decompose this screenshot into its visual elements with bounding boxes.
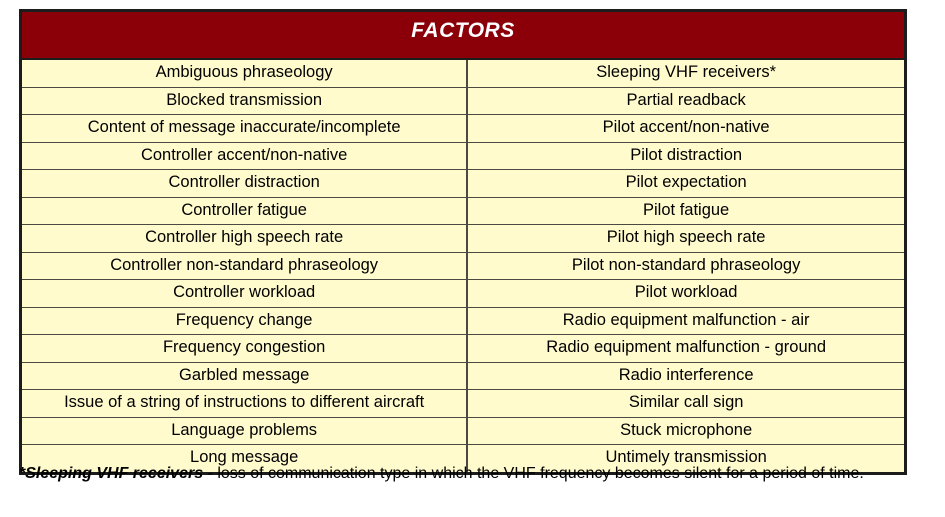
factors-table-page: FACTORS Ambiguous phraseologySleeping VH… xyxy=(0,0,945,517)
table-row: Ambiguous phraseologySleeping VHF receiv… xyxy=(22,60,904,88)
table-row: Language problemsStuck microphone xyxy=(22,418,904,446)
table-header-banner: FACTORS xyxy=(22,12,904,60)
table-cell-right: Pilot high speech rate xyxy=(468,225,904,252)
table-cell-left: Language problems xyxy=(22,418,468,445)
footnote-term: *Sleeping VHF receivers xyxy=(19,465,203,482)
table-cell-right: Similar call sign xyxy=(468,390,904,417)
table-cell-left: Controller non-standard phraseology xyxy=(22,253,468,280)
table-cell-left: Issue of a string of instructions to dif… xyxy=(22,390,468,417)
footnote: *Sleeping VHF receivers - loss of commun… xyxy=(19,462,931,485)
table-cell-right: Pilot distraction xyxy=(468,143,904,170)
table-cell-left: Controller fatigue xyxy=(22,198,468,225)
table-row: Controller fatiguePilot fatigue xyxy=(22,198,904,226)
table-cell-left: Content of message inaccurate/incomplete xyxy=(22,115,468,142)
table-cell-right: Stuck microphone xyxy=(468,418,904,445)
table-cell-left: Controller high speech rate xyxy=(22,225,468,252)
table-cell-right: Radio equipment malfunction - air xyxy=(468,308,904,335)
table-cell-left: Controller distraction xyxy=(22,170,468,197)
table-row: Blocked transmissionPartial readback xyxy=(22,88,904,116)
table-row: Garbled messageRadio interference xyxy=(22,363,904,391)
table-cell-right: Partial readback xyxy=(468,88,904,115)
table-row: Content of message inaccurate/incomplete… xyxy=(22,115,904,143)
table-body: Ambiguous phraseologySleeping VHF receiv… xyxy=(22,60,904,472)
table-cell-left: Frequency change xyxy=(22,308,468,335)
table-cell-right: Pilot non-standard phraseology xyxy=(468,253,904,280)
table-cell-right: Pilot workload xyxy=(468,280,904,307)
factors-table: FACTORS Ambiguous phraseologySleeping VH… xyxy=(19,9,907,475)
table-row: Controller workloadPilot workload xyxy=(22,280,904,308)
table-row: Frequency changeRadio equipment malfunct… xyxy=(22,308,904,336)
table-row: Issue of a string of instructions to dif… xyxy=(22,390,904,418)
table-cell-right: Sleeping VHF receivers* xyxy=(468,60,904,87)
table-row: Controller high speech ratePilot high sp… xyxy=(22,225,904,253)
table-cell-left: Garbled message xyxy=(22,363,468,390)
table-cell-left: Controller workload xyxy=(22,280,468,307)
table-row: Controller accent/non-nativePilot distra… xyxy=(22,143,904,171)
table-row: Controller distractionPilot expectation xyxy=(22,170,904,198)
table-cell-right: Pilot expectation xyxy=(468,170,904,197)
table-title: FACTORS xyxy=(22,19,904,43)
table-cell-left: Blocked transmission xyxy=(22,88,468,115)
table-cell-right: Radio interference xyxy=(468,363,904,390)
table-row: Controller non-standard phraseologyPilot… xyxy=(22,253,904,281)
table-cell-left: Frequency congestion xyxy=(22,335,468,362)
table-row: Frequency congestionRadio equipment malf… xyxy=(22,335,904,363)
table-cell-right: Pilot fatigue xyxy=(468,198,904,225)
table-cell-left: Ambiguous phraseology xyxy=(22,60,468,87)
table-cell-left: Controller accent/non-native xyxy=(22,143,468,170)
footnote-description: - loss of communication type in which th… xyxy=(203,465,864,482)
table-cell-right: Pilot accent/non-native xyxy=(468,115,904,142)
table-cell-right: Radio equipment malfunction - ground xyxy=(468,335,904,362)
